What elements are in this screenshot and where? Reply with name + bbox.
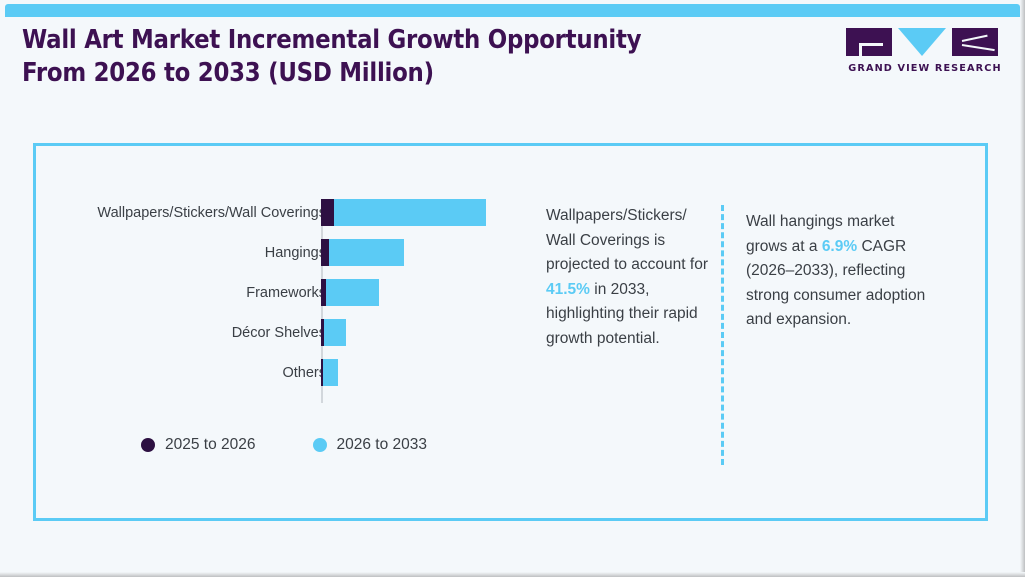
legend-item[interactable]: 2025 to 2026 [141,436,256,454]
legend-dot-icon [141,438,155,452]
bar-stack[interactable] [321,279,379,306]
callout-right: Wall hangings market grows at a 6.9% CAG… [746,210,938,333]
bar-row: Frameworks [36,279,536,306]
bar-stack[interactable] [321,199,486,226]
page-title-line-2: From 2026 to 2033 (USD Million) [22,57,691,90]
logo-marks [846,28,998,56]
callout-divider [721,205,724,465]
logo-g-icon [846,28,892,56]
page-edge-shadow-bottom [0,572,1025,577]
bar-segment-2026-2033[interactable] [334,199,486,226]
page-title: Wall Art Market Incremental Growth Oppor… [22,24,691,90]
bar-category-label: Décor Shelves [232,325,326,341]
bar-row: Wallpapers/Stickers/Wall Coverings [36,199,536,226]
bar-segment-2026-2033[interactable] [326,279,379,306]
logo-wordmark: GRAND VIEW RESEARCH [848,63,995,74]
bar-segment-2026-2033[interactable] [324,319,346,346]
legend-dot-icon [313,438,327,452]
bar-stack[interactable] [321,319,346,346]
bar-segment-2026-2033[interactable] [323,359,338,386]
infographic-page: Wall Art Market Incremental Growth Oppor… [0,0,1025,577]
grand-view-research-logo: GRAND VIEW RESEARCH [846,28,998,76]
bar-row: Hangings [36,239,536,266]
bar-row: Décor Shelves [36,319,536,346]
bar-segment-2026-2033[interactable] [329,239,404,266]
callout-left-pre: Wallpapers/Stickers/Wall Coverings is pr… [546,207,708,273]
chart-panel: Wallpapers/Stickers/Wall CoveringsHangin… [33,143,988,521]
page-title-line-1: Wall Art Market Incremental Growth Oppor… [22,24,691,57]
bar-stack[interactable] [321,239,404,266]
bar-category-label: Frameworks [246,285,326,301]
page-edge-shadow-right [1020,0,1025,577]
bar-segment-2025-2026[interactable] [321,239,329,266]
legend-item-label: 2026 to 2033 [337,436,428,454]
callout-left-highlight: 41.5% [546,281,590,298]
bar-segment-2025-2026[interactable] [321,199,334,226]
callout-right-highlight: 6.9% [822,238,857,255]
chart-legend: 2025 to 2026 2026 to 2033 [141,436,427,454]
bar-row: Others [36,359,536,386]
legend-item-label: 2025 to 2026 [165,436,256,454]
logo-v-icon [898,28,946,56]
top-accent-bar [5,4,1020,17]
callout-left: Wallpapers/Stickers/Wall Coverings is pr… [546,204,718,352]
bar-chart: Wallpapers/Stickers/Wall CoveringsHangin… [36,146,536,524]
bar-stack[interactable] [321,359,338,386]
bar-category-label: Hangings [265,245,326,261]
bar-category-label: Others [282,365,326,381]
legend-item[interactable]: 2026 to 2033 [313,436,428,454]
logo-r-icon [952,28,998,56]
bar-category-label: Wallpapers/Stickers/Wall Coverings [97,205,326,221]
